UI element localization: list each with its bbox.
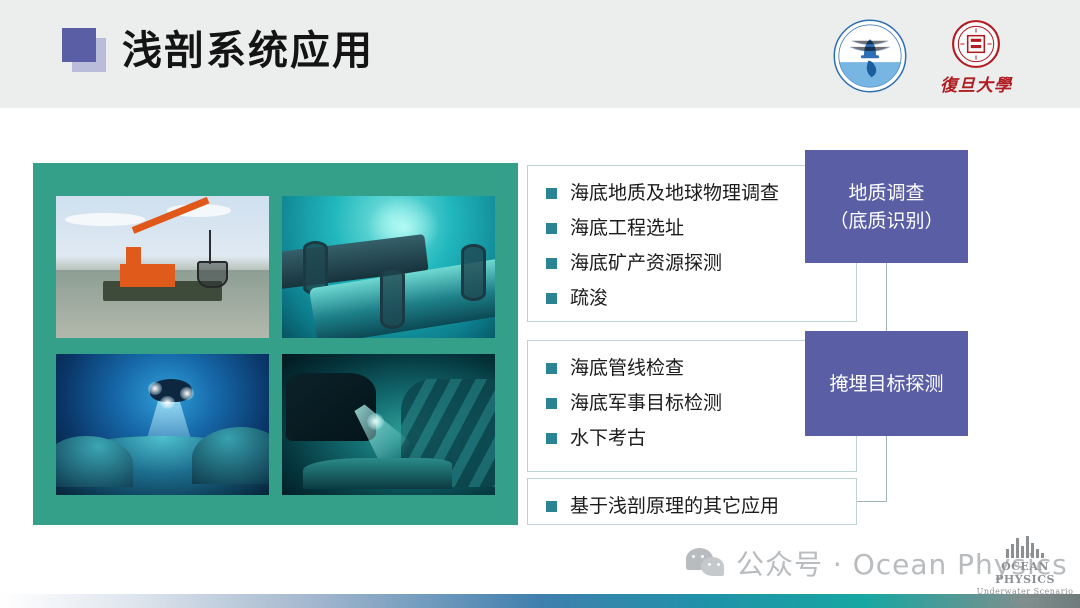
- ocean-physics-tagline: Underwater Scenario Expert: [975, 587, 1075, 605]
- ocean-physics-name: OCEAN PHYSICS: [975, 560, 1075, 586]
- list-item-label: 基于浅剖原理的其它应用: [570, 493, 779, 519]
- connector-line-5: [857, 501, 887, 502]
- underwater-pipeline-photo: [282, 196, 495, 338]
- dredger-barge-photo: [56, 196, 269, 338]
- list-item[interactable]: 海底矿产资源探测: [546, 250, 838, 276]
- deep-sea-submersible-photo: [56, 354, 269, 496]
- institute-seal-icon: [832, 18, 908, 94]
- callout-line-2: （底质识别）: [829, 207, 943, 235]
- slide-header: 浅剖系统应用 復旦大學: [0, 0, 1080, 108]
- wechat-icon: [686, 548, 726, 578]
- underwater-wreck-survey-photo: [282, 354, 495, 496]
- square-front: [62, 28, 96, 62]
- square-bullet-icon: [546, 293, 557, 304]
- list-item-label: 海底工程选址: [570, 215, 684, 241]
- list-item[interactable]: 疏浚: [546, 285, 838, 311]
- square-bullet-icon: [546, 188, 557, 199]
- list-item[interactable]: 基于浅剖原理的其它应用: [546, 493, 838, 519]
- page-title: 浅剖系统应用: [122, 22, 374, 80]
- photo-panel: [33, 163, 518, 525]
- ocean-physics-logo: OCEAN PHYSICS Underwater Scenario Expert: [975, 536, 1075, 594]
- fudan-name-text: 復旦大學: [930, 71, 1022, 96]
- slide-root: 浅剖系统应用 復旦大學: [0, 0, 1080, 608]
- square-bullet-icon: [546, 501, 557, 512]
- connector-line-4: [886, 436, 887, 502]
- list-item-label: 水下考古: [570, 425, 646, 451]
- bottom-gradient-bar: [0, 594, 1080, 608]
- connector-line-3: [886, 263, 887, 331]
- list-item[interactable]: 海底管线检查: [546, 355, 838, 381]
- callout-line-1: 掩埋目标探测: [829, 370, 943, 398]
- list-item[interactable]: 海底工程选址: [546, 215, 838, 241]
- square-bullet-icon: [546, 433, 557, 444]
- square-bullet-icon: [546, 363, 557, 374]
- list-item[interactable]: 水下考古: [546, 425, 838, 451]
- photo-grid: [56, 196, 495, 495]
- square-bullet-icon: [546, 398, 557, 409]
- double-square-icon: [62, 28, 108, 74]
- list-item[interactable]: 海底军事目标检测: [546, 390, 838, 416]
- callout-geology-survey[interactable]: 地质调查 （底质识别）: [805, 150, 968, 263]
- list-item[interactable]: 海底地质及地球物理调查: [546, 180, 838, 206]
- list-item-label: 海底管线检查: [570, 355, 684, 381]
- list-item-label: 海底地质及地球物理调查: [570, 180, 779, 206]
- callout-line-1: 地质调查: [829, 179, 943, 207]
- waveform-icon: [975, 536, 1075, 558]
- list-item-label: 海底军事目标检测: [570, 390, 722, 416]
- square-bullet-icon: [546, 223, 557, 234]
- application-list-other: 基于浅剖原理的其它应用: [527, 478, 857, 525]
- square-bullet-icon: [546, 258, 557, 269]
- fudan-university-seal-icon: 復旦大學: [930, 18, 1022, 96]
- list-item-label: 疏浚: [570, 285, 608, 311]
- list-item-label: 海底矿产资源探测: [570, 250, 722, 276]
- callout-buried-target-detection[interactable]: 掩埋目标探测: [805, 331, 968, 436]
